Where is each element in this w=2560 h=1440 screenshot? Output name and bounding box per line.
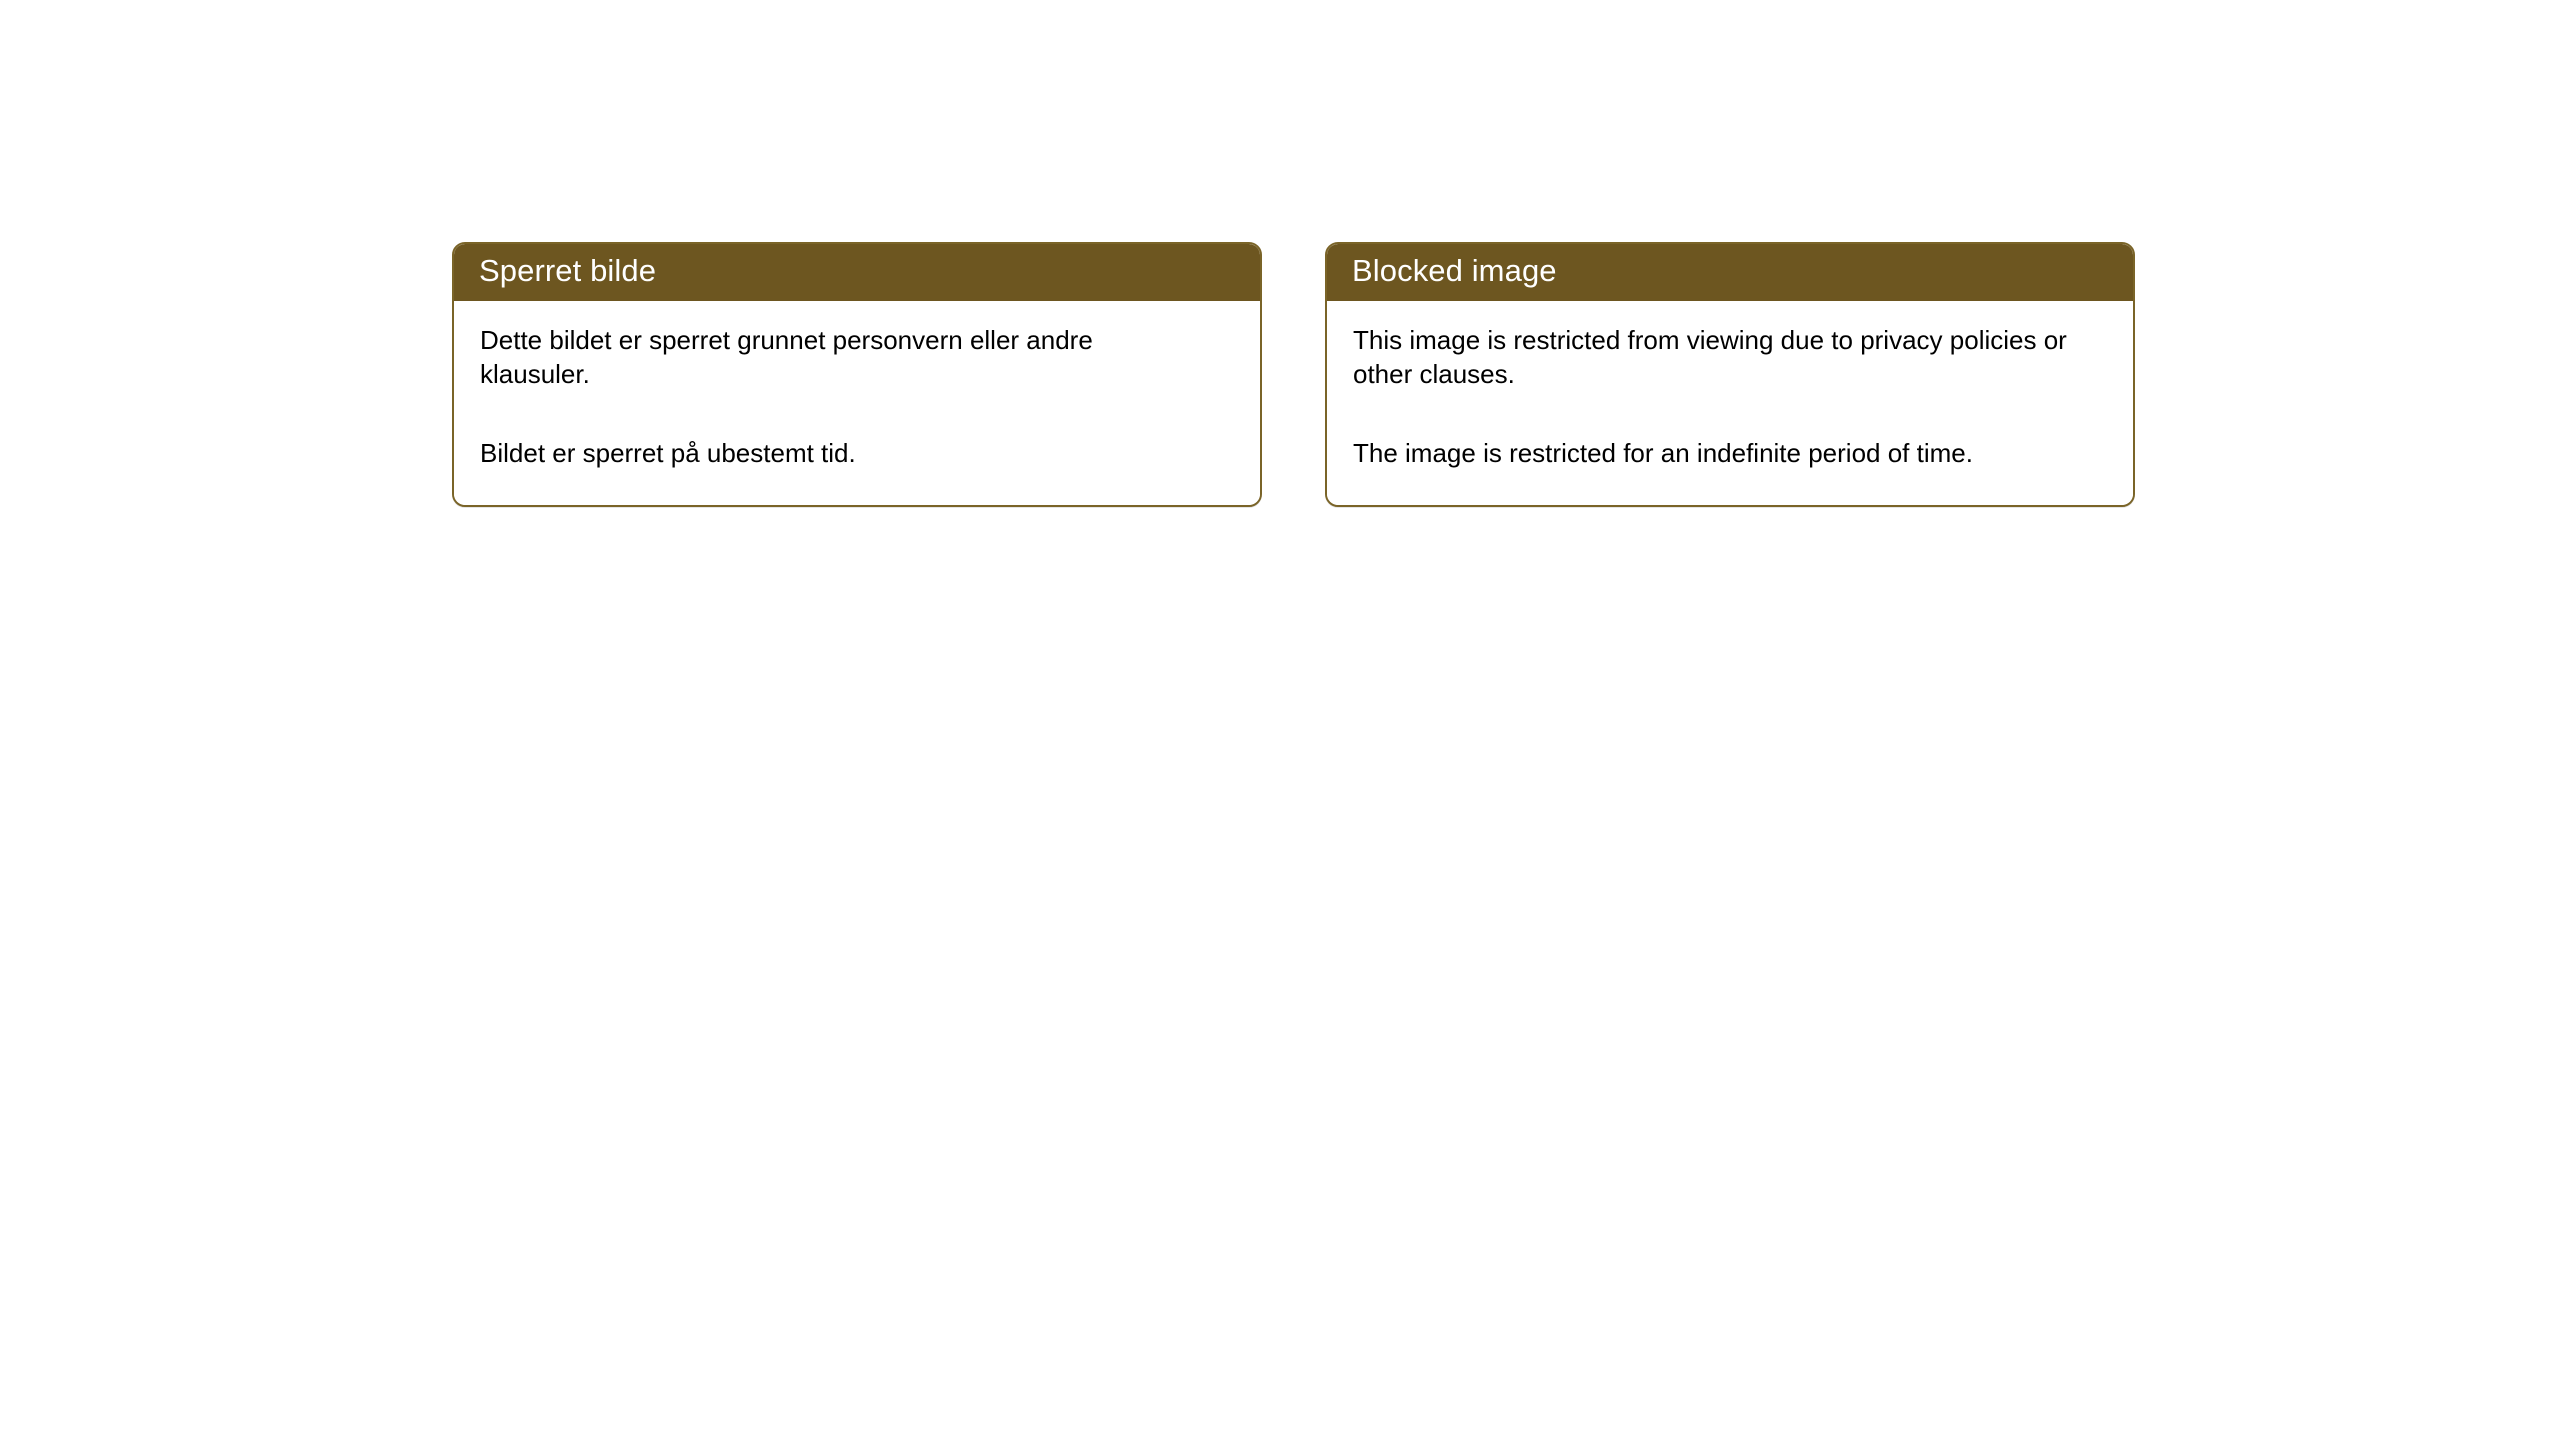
card-paragraph-secondary-english: The image is restricted for an indefinit…	[1353, 436, 2107, 470]
card-paragraph-primary-english: This image is restricted from viewing du…	[1353, 323, 2107, 392]
card-body-norwegian: Dette bildet er sperret grunnet personve…	[454, 301, 1260, 505]
card-body-english: This image is restricted from viewing du…	[1327, 301, 2133, 505]
blocked-image-card-english: Blocked image This image is restricted f…	[1325, 242, 2135, 507]
card-title-norwegian: Sperret bilde	[479, 253, 1260, 290]
notice-cards-container: Sperret bilde Dette bildet er sperret gr…	[452, 242, 2135, 507]
card-paragraph-primary-norwegian: Dette bildet er sperret grunnet personve…	[480, 323, 1180, 392]
card-header-english: Blocked image	[1327, 244, 2133, 301]
page-root: { "page": { "background_color": "#ffffff…	[0, 0, 2560, 1440]
card-paragraph-secondary-norwegian: Bildet er sperret på ubestemt tid.	[480, 436, 1180, 470]
card-title-english: Blocked image	[1352, 253, 2133, 290]
blocked-image-card-norwegian: Sperret bilde Dette bildet er sperret gr…	[452, 242, 1262, 507]
card-header-norwegian: Sperret bilde	[454, 244, 1260, 301]
